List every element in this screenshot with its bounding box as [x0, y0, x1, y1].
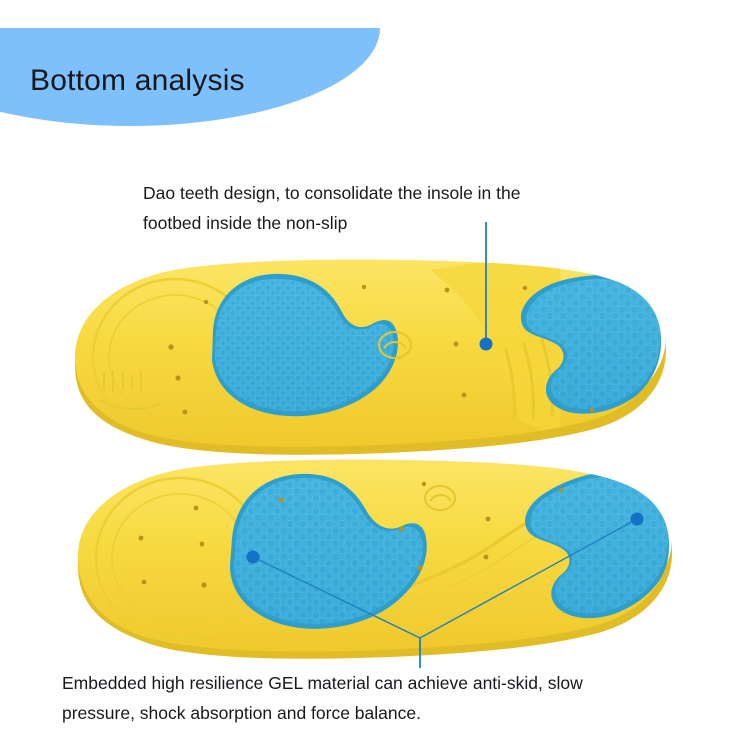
caption-dao-teeth: Dao teeth design, to consolidate the ins… [143, 178, 663, 238]
product-illustration [0, 0, 750, 750]
lower-insole [78, 460, 672, 659]
caption-gel-material: Embedded high resilience GEL material ca… [62, 668, 722, 728]
infographic-page: Bottom analysis [0, 0, 750, 750]
gel-leader-dot-forefoot [247, 551, 260, 564]
gel-leader-dot-heel [631, 513, 644, 526]
upper-insole [75, 250, 666, 455]
dao-teeth-leader-dot [480, 338, 493, 351]
